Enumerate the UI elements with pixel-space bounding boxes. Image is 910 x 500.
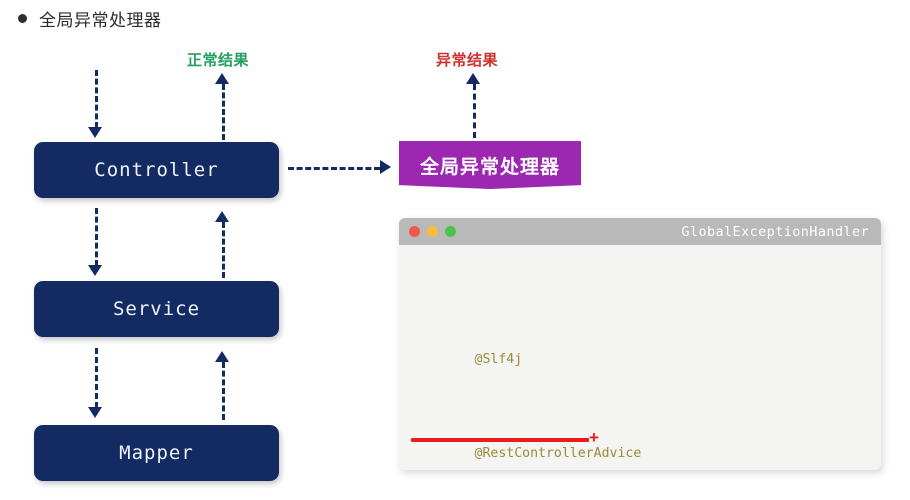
node-mapper[interactable]: Mapper	[34, 425, 279, 481]
arrow-controller-to-service-line	[95, 208, 98, 266]
node-global-exception-handler[interactable]: 全局异常处理器	[399, 141, 581, 189]
window-controls	[409, 226, 456, 237]
annotation-slf4j: @Slf4j	[475, 352, 523, 367]
arrow-controller-to-handler-head	[380, 160, 391, 174]
label-normal-result: 正常结果	[187, 49, 249, 70]
arrow-request-in-line	[95, 70, 98, 128]
arrow-mapper-to-service-line	[222, 362, 225, 420]
node-controller[interactable]: Controller	[34, 142, 279, 198]
code-line-1: @Slf4j	[399, 325, 881, 349]
code-line-2: @RestControllerAdvice +	[399, 419, 881, 443]
arrow-mapper-to-service-head	[215, 351, 229, 362]
arrow-request-in-head	[88, 127, 102, 138]
highlight-underline-restcontrolleradvice	[411, 438, 589, 442]
arrow-normal-result-line	[222, 84, 225, 140]
arrow-error-result-line	[473, 84, 476, 138]
arrow-service-to-mapper-head	[88, 407, 102, 418]
arrow-controller-to-service-head	[88, 265, 102, 276]
node-controller-label: Controller	[94, 159, 218, 181]
maximize-button-icon[interactable]	[445, 226, 456, 237]
code-window-titlebar: GlobalExceptionHandler	[399, 218, 881, 245]
minimize-button-icon[interactable]	[427, 226, 438, 237]
label-error-result: 异常结果	[436, 49, 498, 70]
arrow-error-result-head	[466, 73, 480, 84]
annotation-plus-mark: +	[589, 423, 599, 453]
code-window[interactable]: GlobalExceptionHandler @Slf4j @RestContr…	[399, 218, 881, 470]
page-title-text: 全局异常处理器	[39, 6, 162, 31]
page-title: 全局异常处理器	[18, 6, 162, 31]
arrow-controller-to-handler-line	[288, 167, 380, 170]
node-mapper-label: Mapper	[119, 442, 194, 464]
arrow-service-to-controller-line	[222, 222, 225, 278]
annotation-restcontrolleradvice: @RestControllerAdvice	[475, 446, 642, 461]
node-service[interactable]: Service	[34, 281, 279, 337]
node-handler-label: 全局异常处理器	[420, 152, 560, 179]
node-service-label: Service	[113, 298, 200, 320]
arrow-service-to-mapper-line	[95, 348, 98, 408]
code-body: @Slf4j @RestControllerAdvice + public cl…	[399, 245, 881, 470]
bullet-dot-icon	[18, 14, 27, 23]
arrow-service-to-controller-head	[215, 211, 229, 222]
diagram-canvas: 全局异常处理器 正常结果 异常结果 Controller 全局异常处理器 Ser…	[0, 0, 910, 500]
code-window-title: GlobalExceptionHandler	[681, 224, 869, 240]
arrow-normal-result-head	[215, 73, 229, 84]
close-button-icon[interactable]	[409, 226, 420, 237]
